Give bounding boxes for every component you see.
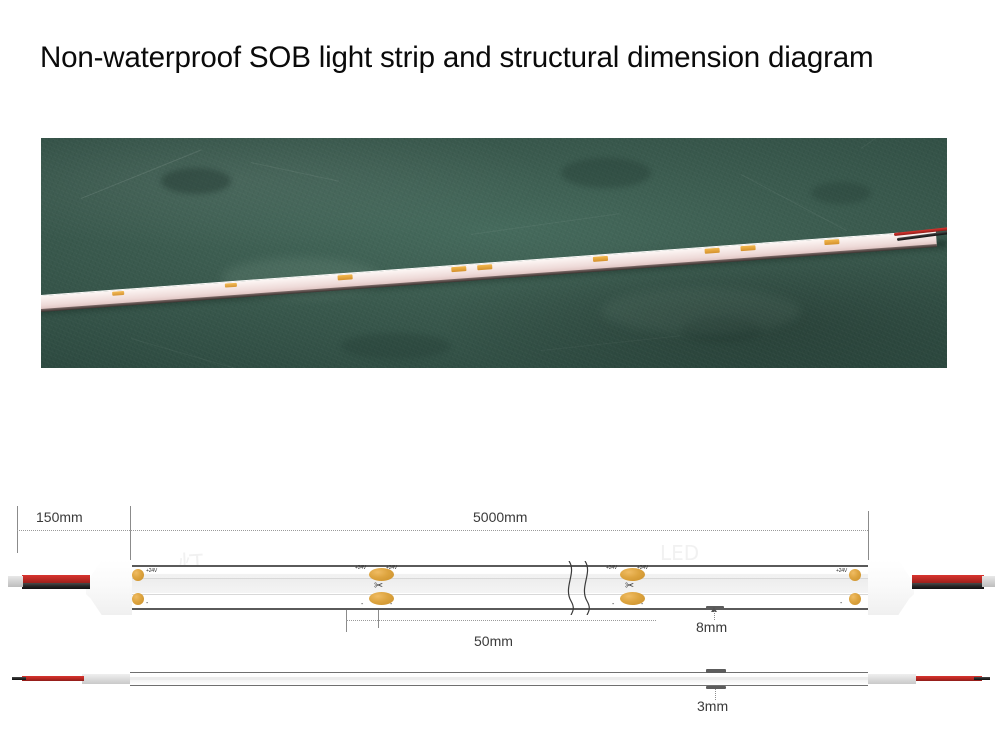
scissors-icon: ✂ [374, 581, 383, 592]
pad-label-positive: +24V [355, 565, 366, 571]
photo-led [451, 266, 466, 272]
pad-label-negative: - [390, 602, 392, 607]
side-view-core [130, 677, 868, 680]
solder-pad-positive [132, 569, 144, 581]
diagram-page: Non-waterproof SOB light strip and struc… [0, 0, 1000, 750]
solder-pad-positive [849, 569, 861, 581]
side-view-wire-positive [916, 676, 982, 681]
right-wire-tip [982, 576, 995, 587]
photo-led [593, 256, 608, 262]
pad-label-negative: - [612, 602, 614, 607]
pad-label-positive: +24V [386, 565, 397, 571]
dimension-label-150mm: 150mm [36, 509, 83, 525]
top-view-hairline [130, 594, 868, 595]
left-wire-tip [8, 576, 23, 587]
pad-label-negative: - [361, 602, 363, 607]
top-view-strip [130, 565, 868, 610]
scissors-icon: ✂ [625, 581, 634, 592]
extension-line-right [868, 511, 869, 566]
right-wire-negative [912, 583, 984, 589]
dimension-label-5000mm: 5000mm [473, 509, 527, 525]
solder-pad-negative [132, 593, 144, 605]
pad-label-negative: - [840, 601, 842, 606]
side-view-wire-positive [22, 676, 84, 681]
side-view-right-cap [868, 674, 916, 684]
pad-label-negative: - [641, 602, 643, 607]
strip-break-symbol [563, 561, 593, 615]
left-end-cap-body [86, 560, 132, 615]
left-wire-negative [22, 583, 90, 589]
sob-light-strip-photo [41, 138, 947, 368]
photo-led [337, 274, 352, 280]
right-end-cap-body [868, 560, 914, 615]
pad-label-positive: +24V [637, 565, 648, 571]
dimension-label-3mm: 3mm [697, 698, 728, 714]
dimension-label-8mm: 8mm [696, 619, 727, 635]
photo-blotch [161, 168, 231, 194]
dimension-label-50mm: 50mm [474, 633, 513, 649]
side-view-strip [130, 672, 868, 686]
side-view-wire-negative [12, 677, 26, 680]
side-view-left-cap [82, 674, 130, 684]
thickness-marker [706, 669, 726, 673]
page-title: Non-waterproof SOB light strip and struc… [40, 38, 873, 78]
pad-label-negative: - [146, 601, 148, 606]
photo-highlight [601, 288, 801, 334]
extension-line-50mm-right [378, 610, 379, 628]
solder-pad-negative [849, 593, 861, 605]
photo-blotch [341, 333, 451, 359]
right-end-cap [868, 560, 914, 615]
extension-line-mid [130, 506, 131, 566]
extension-line-50mm-left [346, 610, 347, 632]
pad-label-positive: +24V [836, 568, 847, 574]
top-view-center-band [130, 579, 868, 593]
dimension-line-150mm [17, 530, 130, 531]
pad-label-positive: +24V [146, 568, 157, 574]
thickness-marker [706, 686, 726, 689]
left-end-cap [86, 560, 132, 615]
side-view-wire-negative [974, 677, 990, 680]
photo-blotch [561, 158, 651, 188]
pad-label-positive: +24V [606, 565, 617, 571]
dimension-line-5000mm [130, 530, 868, 531]
photo-blotch [811, 182, 871, 204]
dimension-line-50mm [346, 620, 656, 621]
technical-drawing: 灯 照明 LED 150mm 5000mm [0, 495, 1000, 750]
watermark: LED [660, 541, 699, 565]
photo-led [225, 283, 237, 288]
